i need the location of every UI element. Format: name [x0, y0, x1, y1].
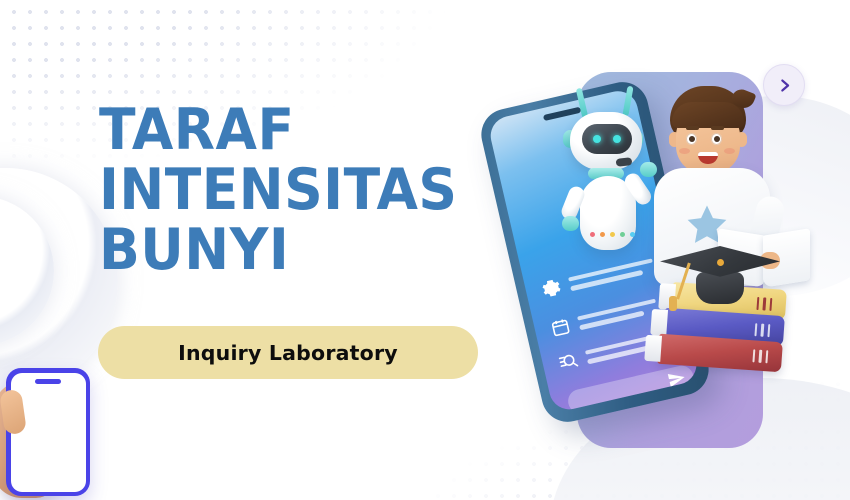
search-doc-icon — [557, 350, 580, 373]
robot-hand-left — [562, 216, 579, 231]
subtitle-pill-button[interactable]: Inquiry Laboratory — [98, 326, 478, 379]
robot-antenna-right — [622, 86, 633, 117]
cap-tassel-end — [669, 296, 677, 311]
student-eye-right — [711, 133, 722, 145]
hero-illustration — [500, 40, 830, 440]
cap-button — [717, 259, 724, 266]
title-line-2: INTENSITAS — [99, 160, 494, 220]
phone-mockup-notch — [35, 379, 61, 384]
title-line-3: BUNYI — [99, 220, 494, 280]
robot-indicator-dots — [590, 232, 635, 237]
slide-canvas: TARAF INTENSITAS BUNYI Inquiry Laborator… — [0, 0, 850, 500]
cap-dome — [696, 272, 744, 304]
phone-screen-text-lines — [568, 258, 655, 291]
robot-microphone — [616, 157, 633, 167]
robot-eye-left — [593, 135, 601, 143]
phone-screen-row — [540, 255, 655, 299]
student-brow-right — [711, 126, 724, 130]
phone-screen-text-lines — [577, 298, 658, 330]
student-cheek-right — [724, 148, 735, 154]
robot-visor — [582, 124, 632, 154]
hand-holding-phone-illustration — [0, 352, 132, 500]
title-line-1: TARAF — [99, 100, 494, 160]
student-fringe — [672, 102, 744, 128]
page-title: TARAF INTENSITAS BUNYI — [99, 100, 519, 280]
phone-screen-row — [549, 296, 659, 339]
robot-eye-right — [613, 135, 621, 143]
calendar-icon — [549, 316, 572, 339]
student-cheek-left — [679, 148, 690, 154]
student-brow-left — [686, 126, 699, 130]
phone-mockup-screen — [11, 373, 86, 492]
student-eye-left — [686, 133, 697, 145]
graduation-cap-icon — [660, 246, 780, 308]
student-teeth — [698, 152, 718, 156]
cap-tassel — [676, 263, 690, 300]
gear-icon — [540, 277, 563, 300]
subtitle-label: Inquiry Laboratory — [178, 341, 398, 365]
